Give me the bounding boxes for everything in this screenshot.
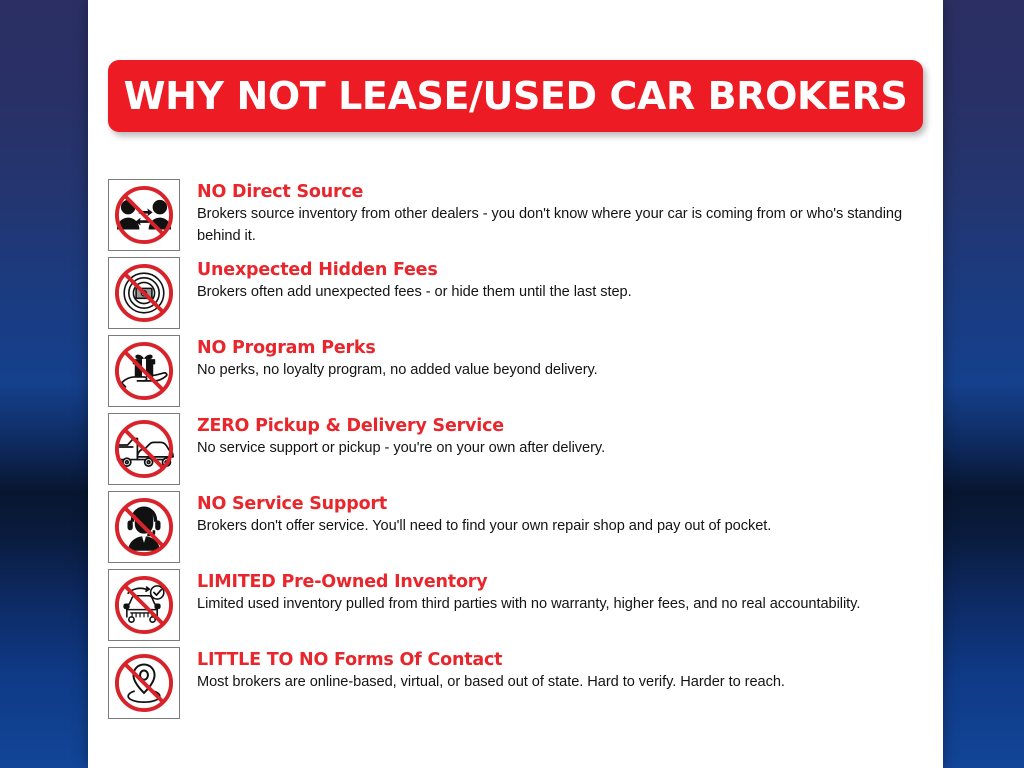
list-item-text: LITTLE TO NO Forms Of Contact Most broke… [180, 647, 928, 694]
list-item: NO Service Support Brokers don't offer s… [108, 491, 928, 569]
no-headset-support-icon [108, 491, 180, 563]
list-item-description: Brokers often add unexpected fees - or h… [197, 282, 927, 304]
title-banner: WHY NOT LEASE/USED CAR BROKERS [108, 60, 923, 132]
no-tow-truck-delivery-icon [108, 413, 180, 485]
list-item: ZERO Pickup & Delivery Service No servic… [108, 413, 928, 491]
list-item-title: Unexpected Hidden Fees [197, 260, 928, 280]
list-item: NO Direct Source Brokers source inventor… [108, 179, 928, 257]
reasons-list: NO Direct Source Brokers source inventor… [108, 179, 928, 725]
list-item-text: NO Direct Source Brokers source inventor… [180, 179, 928, 247]
list-item-description: Brokers source inventory from other deal… [197, 204, 927, 247]
list-item-title: LITTLE TO NO Forms Of Contact [197, 650, 928, 670]
list-item-title: NO Program Perks [197, 338, 928, 358]
list-item: LIMITED Pre-Owned Inventory Limited used… [108, 569, 928, 647]
list-item-title: NO Direct Source [197, 182, 928, 202]
page-title: WHY NOT LEASE/USED CAR BROKERS [124, 74, 908, 118]
no-location-pin-icon [108, 647, 180, 719]
list-item: Unexpected Hidden Fees Brokers often add… [108, 257, 928, 335]
list-item: NO Program Perks No perks, no loyalty pr… [108, 335, 928, 413]
list-item-text: NO Service Support Brokers don't offer s… [180, 491, 928, 538]
list-item-text: LIMITED Pre-Owned Inventory Limited used… [180, 569, 928, 616]
list-item-description: Most brokers are online-based, virtual, … [197, 672, 927, 694]
list-item-description: Limited used inventory pulled from third… [197, 594, 927, 616]
list-item-title: NO Service Support [197, 494, 928, 514]
no-gift-perks-icon [108, 335, 180, 407]
no-certified-car-icon [108, 569, 180, 641]
no-direct-source-icon [108, 179, 180, 251]
list-item-text: ZERO Pickup & Delivery Service No servic… [180, 413, 928, 460]
list-item-text: NO Program Perks No perks, no loyalty pr… [180, 335, 928, 382]
list-item: LITTLE TO NO Forms Of Contact Most broke… [108, 647, 928, 725]
list-item-description: Brokers don't offer service. You'll need… [197, 516, 927, 538]
list-item-description: No perks, no loyalty program, no added v… [197, 360, 927, 382]
content-card: WHY NOT LEASE/USED CAR BROKERS [88, 0, 943, 768]
no-hidden-fees-icon [108, 257, 180, 329]
list-item-title: LIMITED Pre-Owned Inventory [197, 572, 928, 592]
list-item-description: No service support or pickup - you're on… [197, 438, 927, 460]
list-item-title: ZERO Pickup & Delivery Service [197, 416, 928, 436]
list-item-text: Unexpected Hidden Fees Brokers often add… [180, 257, 928, 304]
